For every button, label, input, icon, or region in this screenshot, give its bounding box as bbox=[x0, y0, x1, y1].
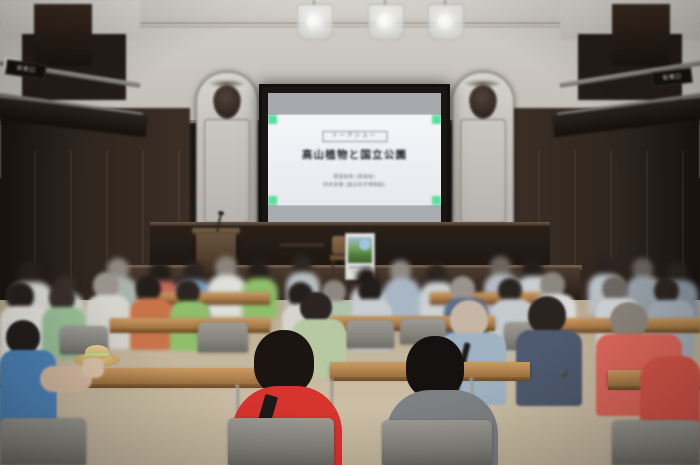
slide-corner-accent bbox=[268, 115, 277, 124]
decor-arch-panel-right bbox=[452, 72, 514, 232]
chair-back-front bbox=[382, 420, 492, 465]
poster-photo bbox=[348, 237, 372, 263]
chair-back-front bbox=[0, 418, 86, 465]
pendant-bulb bbox=[306, 13, 323, 30]
chair-leg bbox=[332, 260, 334, 272]
slide-corner-accent bbox=[268, 196, 277, 205]
exit-sign-label: 非常口 bbox=[662, 73, 682, 81]
presentation-slide: トークショー 高山植物と国立公園 野田坂秀 (環境省) 村井良徳 (国立科学博物… bbox=[268, 115, 441, 205]
slide-corner-accent bbox=[432, 196, 441, 205]
arch-inner-panel bbox=[460, 119, 506, 223]
head bbox=[406, 336, 464, 398]
chair-back bbox=[346, 320, 394, 348]
exit-sign-label: 非常口 bbox=[16, 65, 36, 74]
arch-medallion bbox=[469, 85, 497, 119]
lecture-hall-photo: 非常口 非常口 トークショ bbox=[0, 0, 700, 465]
head bbox=[528, 296, 566, 334]
projection-band-bottom bbox=[268, 205, 441, 223]
projection-screen: トークショー 高山植物と国立公園 野田坂秀 (環境省) 村井良徳 (国立科学博物… bbox=[259, 84, 450, 232]
balcony-doorway bbox=[612, 4, 670, 66]
arch-inner-panel bbox=[204, 119, 250, 223]
pendant-bulb bbox=[377, 13, 394, 30]
hand bbox=[82, 358, 104, 378]
slide-corner-accent bbox=[432, 115, 441, 124]
projection-band-top bbox=[268, 93, 441, 115]
chair-back-front bbox=[612, 420, 700, 465]
head bbox=[610, 302, 648, 338]
hat-band bbox=[85, 353, 109, 356]
arch-medallion bbox=[213, 85, 241, 119]
head bbox=[254, 330, 314, 394]
slide-kicker-label: トークショー bbox=[322, 131, 387, 142]
stage-backdrop-trim bbox=[150, 222, 550, 226]
screen-surface: トークショー 高山植物と国立公園 野田坂秀 (環境省) 村井良徳 (国立科学博物… bbox=[268, 93, 441, 223]
chair-back-front bbox=[228, 418, 334, 465]
slide-speaker-line-2: 村井良徳 (国立科学博物館) bbox=[323, 181, 385, 188]
left-balcony: 非常口 bbox=[0, 0, 140, 128]
chair-back bbox=[198, 322, 248, 352]
balcony-doorway bbox=[34, 4, 92, 66]
right-balcony: 非常口 bbox=[560, 0, 700, 128]
desk-caster bbox=[560, 370, 567, 377]
stage-table bbox=[280, 243, 324, 247]
head bbox=[300, 292, 332, 322]
desk-row-back bbox=[150, 292, 270, 301]
decor-arch-panel-left bbox=[196, 72, 258, 232]
hat-crown bbox=[85, 345, 109, 359]
head bbox=[6, 320, 40, 354]
pendant-bulb bbox=[437, 13, 454, 30]
slide-title: 高山植物と国立公園 bbox=[302, 149, 407, 162]
slide-speaker-line-1: 野田坂秀 (環境省) bbox=[334, 173, 376, 180]
